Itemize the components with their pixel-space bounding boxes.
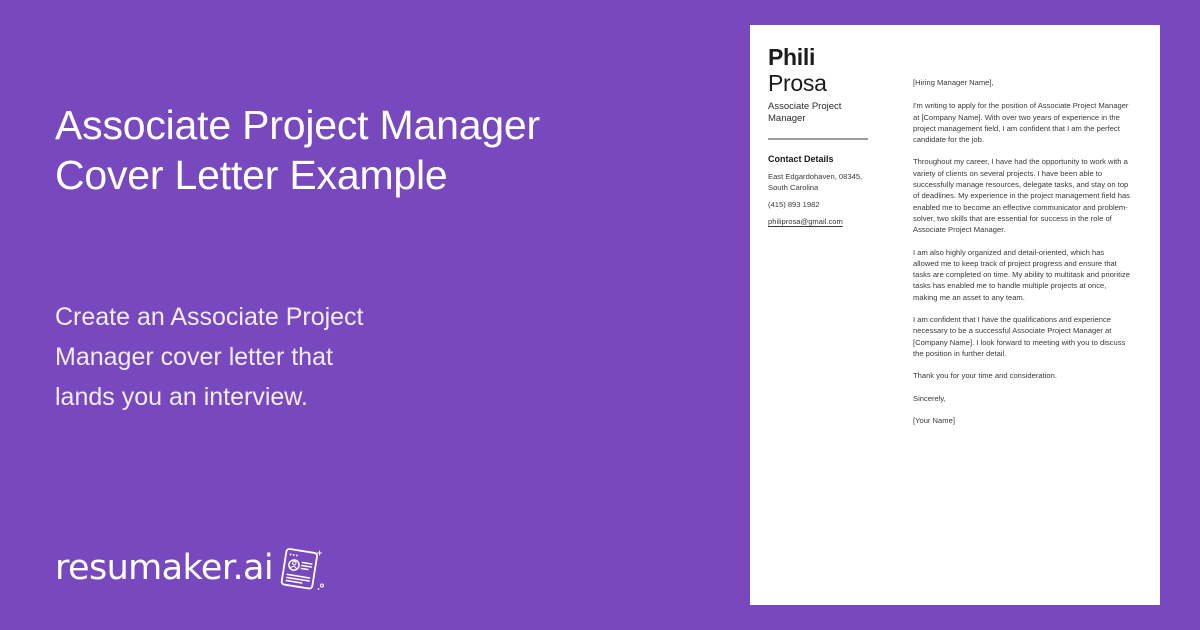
brand-logo[interactable]: resumaker.ai [55,545,327,591]
resume-document-icon [275,545,327,591]
page-subtitle-line-2: Manager cover letter that [55,337,675,377]
contact-details-heading: Contact Details [768,153,890,165]
applicant-job-title: Associate Project Manager [768,101,890,125]
applicant-first-name: Phili [768,45,890,70]
header-divider [768,138,868,140]
letter-salutation: [Hiring Manager Name], [913,77,1131,88]
cover-letter-preview-card[interactable]: Phili Prosa Associate Project Manager Co… [750,25,1160,605]
contact-email[interactable]: philiprosa@gmail.com [768,216,890,227]
page-subtitle: Create an Associate Project Manager cove… [55,297,675,417]
applicant-job-title-line-1: Associate Project [768,101,841,112]
contact-address-line-1: East Edgardohaven, 08345, [768,171,890,182]
letter-signature: [Your Name] [913,415,1131,426]
page-subtitle-line-3: lands you an interview. [55,377,675,417]
page-title-line-1: Associate Project Manager [55,100,675,150]
letter-closing-thanks: Thank you for your time and consideratio… [913,370,1131,381]
letter-closing-sincerely: Sincerely, [913,393,1131,404]
letter-paragraph-3: I am also highly organized and detail-or… [913,247,1131,303]
letter-paragraph-4: I am confident that I have the qualifica… [913,314,1131,359]
promo-banner: Associate Project Manager Cover Letter E… [0,0,1200,630]
contact-address-line-2: South Carolina [768,182,890,193]
letter-paragraph-2: Throughout my career, I have had the opp… [913,156,1131,235]
applicant-job-title-line-2: Manager [768,113,806,124]
cover-letter-page: Phili Prosa Associate Project Manager Co… [750,25,1160,605]
page-title: Associate Project Manager Cover Letter E… [55,100,675,200]
contact-phone: (415) 893 1982 [768,199,890,210]
letter-paragraph-1: I'm writing to apply for the position of… [913,100,1131,145]
applicant-last-name: Prosa [768,70,890,96]
promo-panel: Associate Project Manager Cover Letter E… [0,0,740,630]
page-subtitle-line-1: Create an Associate Project [55,297,675,337]
letter-header-column: Phili Prosa Associate Project Manager Co… [768,45,890,227]
brand-wordmark: resumaker.ai [55,549,273,587]
letter-body-column: [Hiring Manager Name], I'm writing to ap… [913,77,1131,437]
page-title-line-2: Cover Letter Example [55,150,675,200]
